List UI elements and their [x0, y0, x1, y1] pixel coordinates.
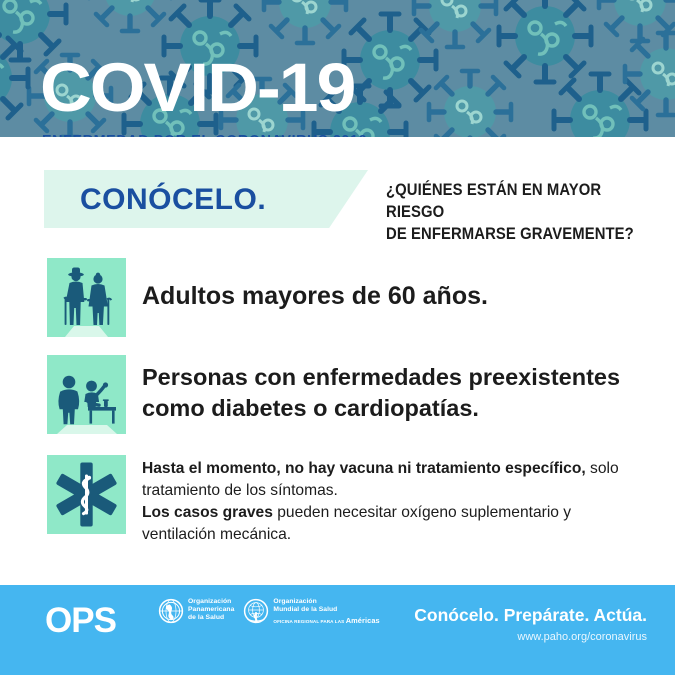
treatment-note-bold1: Hasta el momento, no hay vacuna ni trata… [142, 460, 586, 477]
who-logo-region-prefix: OFICINA REGIONAL PARA LAS [273, 619, 344, 624]
who-logo-line1: Organización [273, 598, 379, 606]
who-logo: Organización Mundial de la Salud OFICINA… [243, 598, 379, 626]
risk-item-preexisting: Personas con enfermedades preexistentes … [0, 352, 675, 437]
star-of-life-icon [47, 455, 126, 534]
elderly-couple-icon [47, 258, 126, 337]
paho-emblem-icon [158, 598, 184, 624]
who-logo-region: Américas [346, 616, 380, 625]
paho-logo-line1: Organización [188, 598, 234, 606]
risk-item-preexisting-line2: como diabetes o cardiopatías. [142, 395, 479, 421]
footer-bar: OPS Organización Panamericana de la Salu… [0, 585, 675, 675]
risk-item-elderly: Adultos mayores de 60 años. [0, 255, 675, 340]
page-title: COVID-19 [40, 56, 664, 119]
who-logo-text: Organización Mundial de la Salud OFICINA… [273, 598, 379, 626]
conocelo-label: CONÓCELO. [80, 183, 266, 217]
who-logo-line2: Mundial de la Salud [273, 606, 379, 614]
risk-question: ¿QUIÉNES ESTÁN EN MAYOR RIESGO DE ENFERM… [386, 180, 638, 245]
treatment-note-bold2: Los casos graves [142, 504, 273, 521]
ops-wordmark: OPS [45, 601, 116, 641]
who-emblem-icon [243, 598, 269, 624]
risk-question-line2: DE ENFERMARSE GRAVEMENTE? [386, 225, 634, 243]
organization-logos: Organización Panamericana de la Salud [158, 598, 380, 626]
paho-logo-line2: Panamericana [188, 606, 234, 614]
treatment-note-text: Hasta el momento, no hay vacuna ni trata… [142, 458, 642, 547]
patient-consultation-icon [47, 355, 126, 434]
footer-url[interactable]: www.paho.org/coronavirus [517, 631, 647, 643]
header-banner: COVID-19 ENFERMEDAD POR EL CORONAVIRUS 2… [0, 0, 675, 137]
risk-item-preexisting-text: Personas con enfermedades preexistentes … [142, 362, 652, 423]
page-subtitle: ENFERMEDAD POR EL CORONAVIRUS 2019 [42, 133, 367, 137]
paho-logo-text: Organización Panamericana de la Salud [188, 598, 234, 623]
treatment-note-row: Hasta el momento, no hay vacuna ni trata… [0, 452, 675, 547]
who-logo-region-line: OFICINA REGIONAL PARA LAS Américas [273, 616, 379, 625]
risk-question-line1: ¿QUIÉNES ESTÁN EN MAYOR RIESGO [386, 181, 601, 221]
paho-logo: Organización Panamericana de la Salud [158, 598, 234, 624]
infographic-poster: COVID-19 ENFERMEDAD POR EL CORONAVIRUS 2… [0, 0, 675, 675]
page-title-block: COVID-19 [40, 56, 640, 119]
footer-tagline: Conócelo. Prepárate. Actúa. [414, 605, 647, 626]
paho-logo-line3: de la Salud [188, 614, 234, 622]
risk-item-elderly-text: Adultos mayores de 60 años. [142, 281, 488, 311]
risk-item-preexisting-line1: Personas con enfermedades preexistentes [142, 364, 620, 390]
